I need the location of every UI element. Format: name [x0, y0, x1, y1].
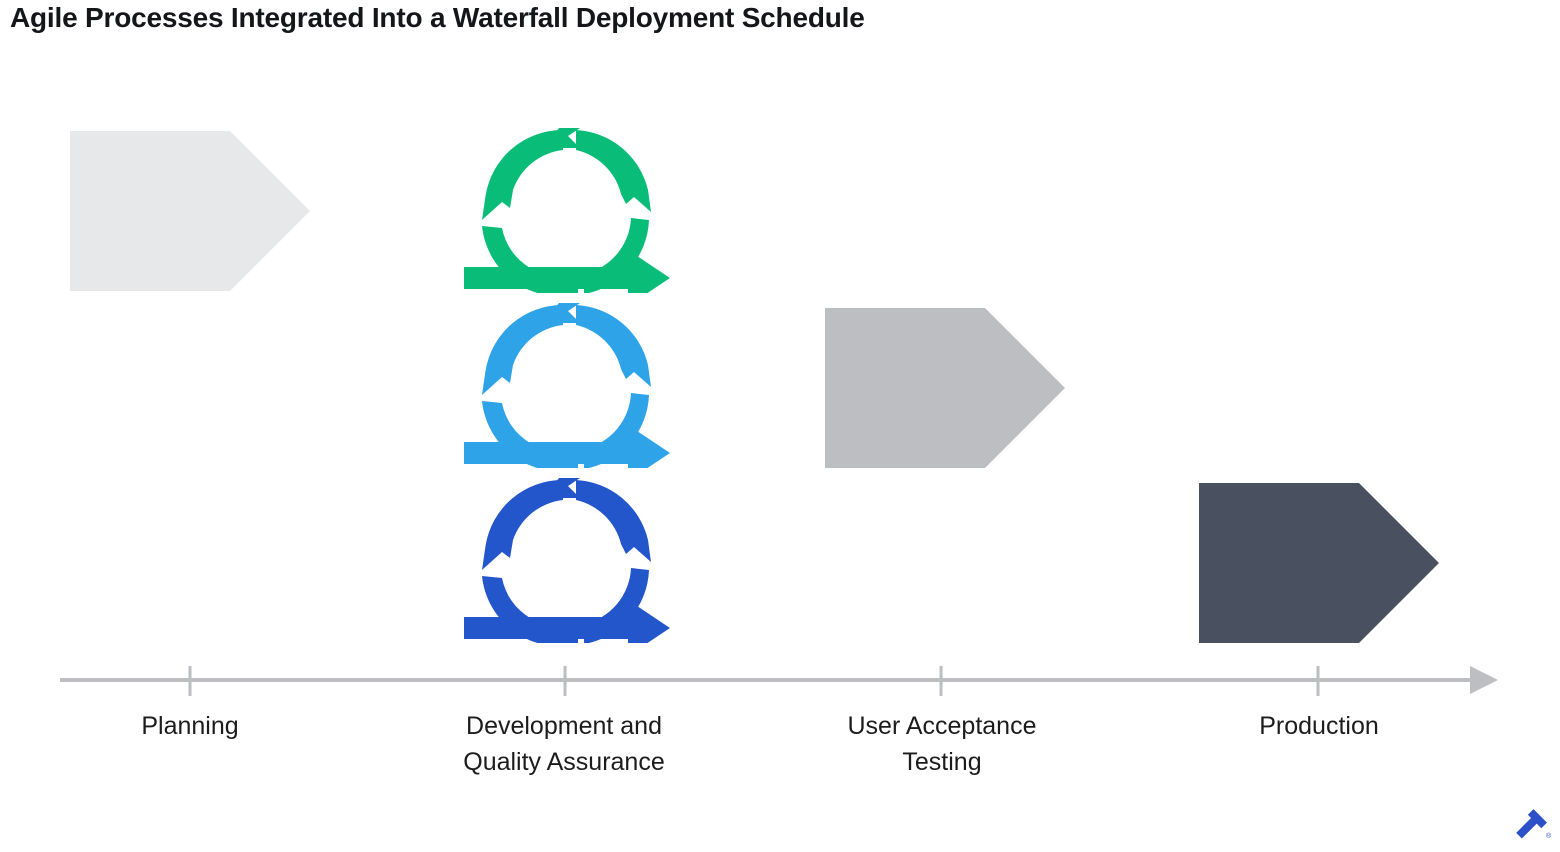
- axis-label-planning-line1: Planning: [60, 708, 320, 744]
- axis-label-development-and-quality-assurance: Development and Quality Assurance: [434, 708, 694, 780]
- agile-cycle-icon-dark-blue: [458, 478, 673, 643]
- diagram-canvas: Agile Processes Integrated Into a Waterf…: [0, 0, 1560, 852]
- axis-label-planning: Planning: [60, 708, 320, 744]
- axis-label-development-line1: Development and: [434, 708, 694, 744]
- phase-shape-user-acceptance-testing: [825, 308, 1070, 468]
- timeline-arrowhead-icon: [1470, 666, 1498, 694]
- axis-label-development-line2: Quality Assurance: [434, 744, 694, 780]
- axis-label-uat-line1: User Acceptance: [812, 708, 1072, 744]
- agile-cycle-icon-light-blue: [458, 303, 673, 468]
- agile-cycle-icon-green: [458, 128, 673, 293]
- timeline-axis: [50, 655, 1510, 705]
- page-title: Agile Processes Integrated Into a Waterf…: [10, 2, 865, 34]
- axis-label-production: Production: [1189, 708, 1449, 744]
- axis-label-production-line1: Production: [1189, 708, 1449, 744]
- phase-shape-production: [1199, 483, 1444, 643]
- axis-label-uat-line2: Testing: [812, 744, 1072, 780]
- axis-label-user-acceptance-testing: User Acceptance Testing: [812, 708, 1072, 780]
- registered-trademark-icon: ®: [1546, 832, 1552, 840]
- phase-shape-planning: [70, 131, 315, 291]
- toptal-logo-icon: ®: [1508, 802, 1552, 846]
